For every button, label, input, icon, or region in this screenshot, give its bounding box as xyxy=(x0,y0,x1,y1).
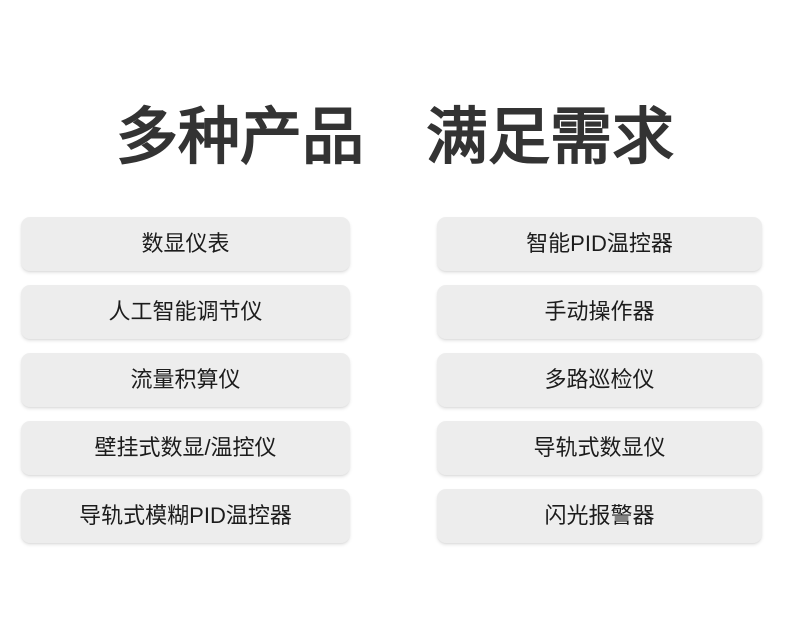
product-card[interactable]: 壁挂式数显/温控仪 xyxy=(21,421,350,475)
product-card-label: 多路巡检仪 xyxy=(544,367,654,393)
product-category-grid: 数显仪表 人工智能调节仪 流量积算仪 壁挂式数显/温控仪 导轨式模糊PID温控器… xyxy=(21,217,762,551)
product-card-label: 人工智能调节仪 xyxy=(108,299,262,325)
product-card-label: 导轨式模糊PID温控器 xyxy=(79,503,292,529)
page-title: 多种产品 满足需求 xyxy=(0,97,790,179)
product-column-left: 数显仪表 人工智能调节仪 流量积算仪 壁挂式数显/温控仪 导轨式模糊PID温控器 xyxy=(21,217,350,543)
product-card[interactable]: 智能PID温控器 xyxy=(437,217,762,271)
product-card-label: 流量积算仪 xyxy=(130,367,240,393)
product-card-label: 壁挂式数显/温控仪 xyxy=(94,435,276,461)
product-category-page: 多种产品 满足需求 数显仪表 人工智能调节仪 流量积算仪 壁挂式数显/温控仪 导… xyxy=(0,0,790,626)
product-card-label: 导轨式数显仪 xyxy=(533,435,665,461)
product-card-label: 数显仪表 xyxy=(141,231,229,257)
product-card[interactable]: 手动操作器 xyxy=(437,285,762,339)
product-card[interactable]: 多路巡检仪 xyxy=(437,353,762,407)
product-card[interactable]: 导轨式数显仪 xyxy=(437,421,762,475)
product-card[interactable]: 闪光报警器 xyxy=(437,489,762,543)
product-card-label: 闪光报警器 xyxy=(544,503,654,529)
product-card-label: 智能PID温控器 xyxy=(526,231,673,257)
product-card[interactable]: 数显仪表 xyxy=(21,217,350,271)
product-card[interactable]: 导轨式模糊PID温控器 xyxy=(21,489,350,543)
product-column-right: 智能PID温控器 手动操作器 多路巡检仪 导轨式数显仪 闪光报警器 xyxy=(437,217,762,543)
product-card[interactable]: 人工智能调节仪 xyxy=(21,285,350,339)
product-card[interactable]: 流量积算仪 xyxy=(21,353,350,407)
product-card-label: 手动操作器 xyxy=(544,299,654,325)
